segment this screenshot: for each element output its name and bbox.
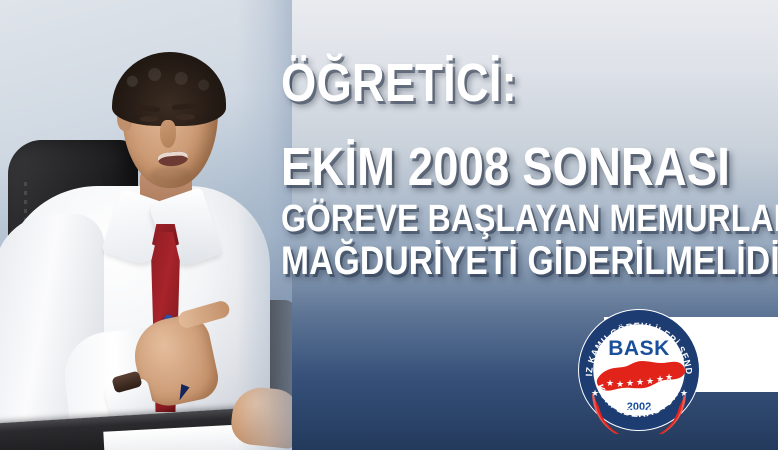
- eye-right: [176, 114, 195, 120]
- logo-acronym: BASK: [608, 337, 670, 360]
- headline-line-4: MAĞDURİYETİ GİDERİLMELİDİR: [281, 241, 676, 281]
- nose: [160, 120, 176, 148]
- headline-line-1: ÖĞRETİCİ:: [281, 56, 676, 110]
- eye-left: [140, 116, 158, 122]
- map-star: ★: [646, 376, 654, 386]
- map-star: ★: [626, 378, 634, 388]
- map-star: ★: [636, 377, 644, 387]
- subject-photo: [0, 0, 292, 450]
- chin-shadow: [150, 166, 192, 184]
- map-star: ★: [606, 378, 614, 388]
- headline: ÖĞRETİCİ: EKİM 2008 SONRASI GÖREVE BAŞLA…: [281, 56, 751, 281]
- bask-logo: BAĞIMSIZ KAMU GÖREVLİLERİ SENDİKALARI ★ …: [575, 306, 703, 434]
- headline-line-2: EKİM 2008 SONRASI: [281, 140, 676, 194]
- map-star: ★: [616, 379, 624, 389]
- map-star: ★: [656, 374, 664, 384]
- headline-line-3: GÖREVE BAŞLAYAN MEMURLARIN: [281, 200, 676, 238]
- map-star: ★: [665, 372, 673, 382]
- news-banner: ÖĞRETİCİ: EKİM 2008 SONRASI GÖREVE BAŞLA…: [0, 0, 778, 450]
